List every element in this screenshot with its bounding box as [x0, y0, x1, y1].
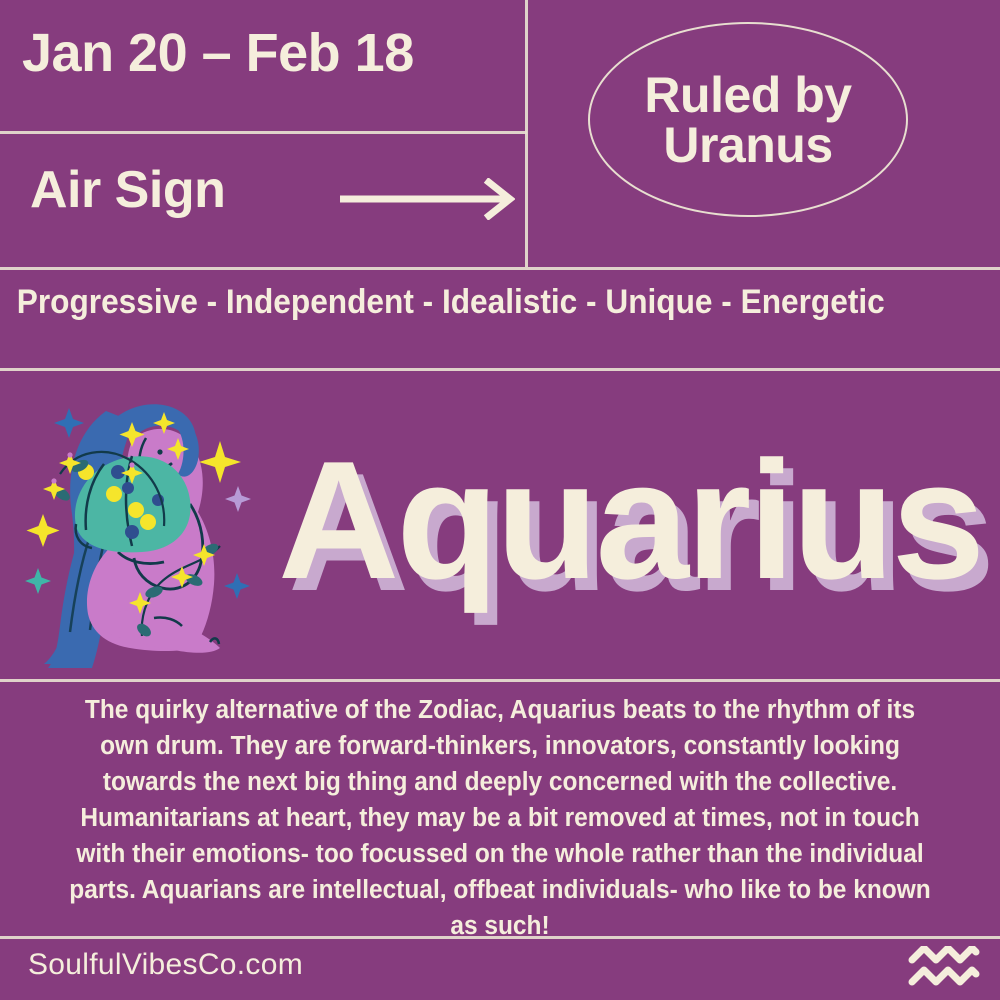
divider-vertical-header [525, 0, 528, 267]
sign-title: Aquarius [278, 436, 982, 604]
divider-footer-top [0, 936, 1000, 939]
aquarius-illustration [14, 386, 292, 676]
aquarius-glyph-icon [908, 946, 980, 988]
ruled-by-text: Ruled by Uranus [644, 70, 851, 170]
divider-description-top [0, 679, 1000, 682]
site-url[interactable]: SoulfulVibesCo.com [28, 950, 303, 980]
divider-under-dates [0, 131, 527, 134]
zodiac-card: Jan 20 – Feb 18 Air Sign Ruled by Uranus… [0, 0, 1000, 1000]
divider-traits-bottom [0, 368, 1000, 371]
ruled-by-line2: Uranus [644, 120, 851, 170]
sign-description: The quirky alternative of the Zodiac, Aq… [64, 692, 936, 944]
divider-header-bottom [0, 267, 1000, 270]
traits-band: Progressive - Independent - Idealistic -… [0, 283, 930, 322]
long-right-arrow-icon [340, 178, 515, 220]
ruled-by-badge: Ruled by Uranus [588, 22, 908, 217]
ruled-by-line1: Ruled by [644, 70, 851, 120]
element-label: Air Sign [30, 164, 225, 216]
date-range: Jan 20 – Feb 18 [22, 26, 414, 80]
